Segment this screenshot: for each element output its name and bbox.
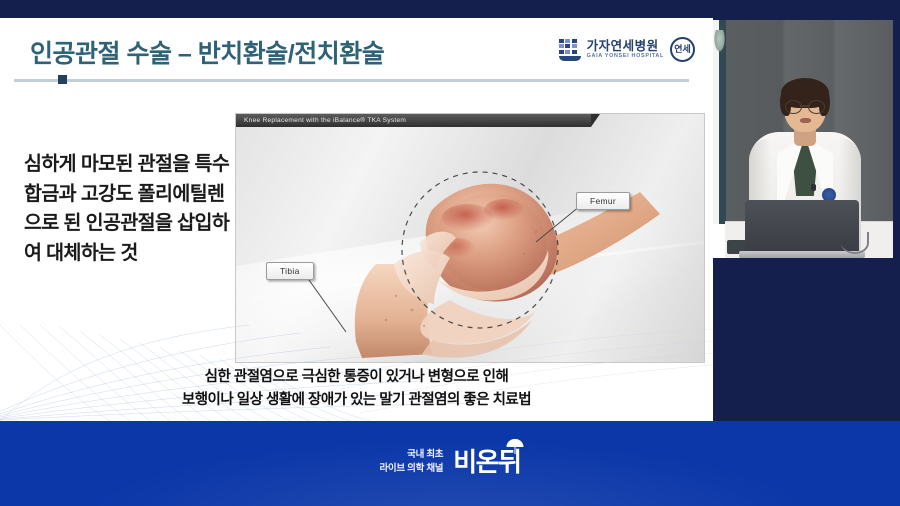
hospital-name-block: 가자연세병원 GAIA YONSEI HOSPITAL <box>587 40 664 60</box>
hospital-name-en: GAIA YONSEI HOSPITAL <box>587 54 664 59</box>
channel-name: 비온뒤 <box>453 449 520 475</box>
hospital-emblem-text: 연세 <box>674 46 691 53</box>
page-title: 인공관절 수술 – 반치환술/전치환술 <box>30 34 384 70</box>
hospital-emblem-icon: 연세 <box>670 37 695 62</box>
presenter-video-panel[interactable] <box>713 20 893 258</box>
annotation-femur: Femur <box>576 192 630 210</box>
annotation-tibia: Tibia <box>266 262 314 280</box>
glasses-icon <box>785 100 825 112</box>
shelf-plant <box>714 30 725 52</box>
slide-caption-line-2: 보행이나 일상 생활에 장애가 있는 말기 관절염의 좋은 치료법 <box>0 389 713 412</box>
laptop <box>739 200 865 258</box>
title-divider <box>14 79 689 82</box>
channel-tagline: 국내 최초 라이브 의학 채널 <box>379 448 443 476</box>
slide-caption-line-1: 심한 관절염으로 극심한 통증이 있거나 변형으로 인해 <box>0 366 713 389</box>
slide-caption: 심한 관절염으로 극심한 통증이 있거나 변형으로 인해 보행이나 일상 생활에… <box>0 366 713 413</box>
channel-tagline-line-2: 라이브 의학 채널 <box>379 462 443 476</box>
channel-logo: 국내 최초 라이브 의학 채널 비온뒤 <box>379 448 520 476</box>
title-divider-marker <box>58 75 67 84</box>
hospital-logo: 가자연세병원 GAIA YONSEI HOSPITAL 연세 <box>559 37 695 62</box>
hospital-name-kr: 가자연세병원 <box>587 40 664 53</box>
presentation-slide: 인공관절 수술 – 반치환술/전치환술 가자연세병원 GAIA YONSEI H… <box>0 18 713 421</box>
lapel-microphone <box>811 184 816 191</box>
umbrella-icon <box>507 439 524 450</box>
laptop-cable <box>841 232 869 254</box>
screen: 인공관절 수술 – 반치환술/전치환술 가자연세병원 GAIA YONSEI H… <box>0 0 900 506</box>
hospital-building-icon <box>559 39 581 61</box>
lead-paragraph: 심하게 마모된 관절을 특수 합금과 고강도 폴리에틸렌으로 된 인공관절을 삽… <box>24 150 239 269</box>
figure-caption-bar: Knee Replacement with the iBalance® TKA … <box>236 114 591 127</box>
figure-caption-text: Knee Replacement with the iBalance® TKA … <box>236 117 406 124</box>
channel-tagline-line-1: 국내 최초 <box>407 448 443 462</box>
presenter-mouth <box>800 118 811 123</box>
